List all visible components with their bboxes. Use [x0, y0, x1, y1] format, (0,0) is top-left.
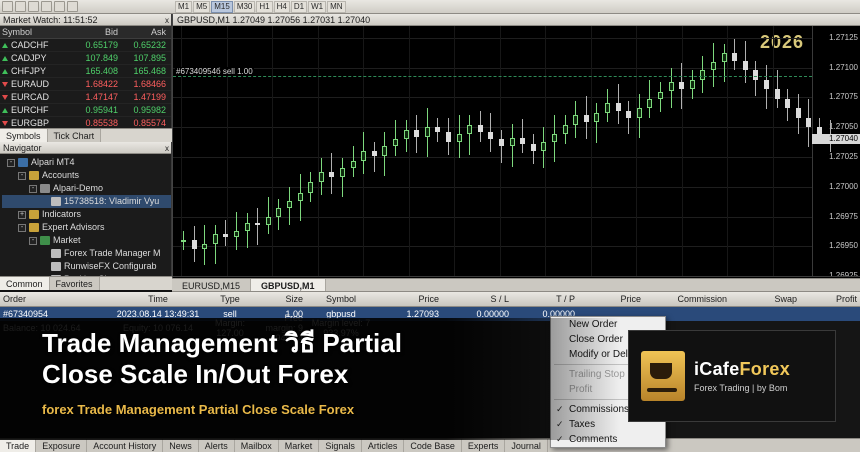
column-profit: Profit — [800, 294, 860, 304]
navigator-item[interactable]: 15738518: Vladimir Vyu — [2, 195, 171, 208]
tab-gbpusd-m1[interactable]: GBPUSD,M1 — [251, 279, 326, 291]
doc-icon — [51, 249, 61, 258]
navigator-item-label: Forex Trade Manager M — [64, 247, 161, 260]
column-tp: T / P — [512, 294, 578, 304]
brand-name: iCafeForex — [694, 359, 790, 380]
chart-header: GBPUSD,M1 1.27049 1.27056 1.27031 1.2704… — [173, 14, 860, 26]
candlestick — [351, 26, 356, 276]
candlestick — [690, 26, 695, 276]
market-watch-rows: CADCHF0.651790.65232CADJPY107.849107.895… — [0, 39, 171, 130]
timeframe-m30[interactable]: M30 — [234, 1, 256, 13]
tab-symbols[interactable]: Symbols — [0, 129, 48, 142]
candlestick — [414, 26, 419, 276]
terminal-header: Order Time Type Size Symbol Price S / L … — [0, 292, 860, 307]
candlestick — [658, 26, 663, 276]
brand-logo-card: iCafeForex Forex Trading | by Bom — [628, 330, 836, 422]
cell-ask: 0.65232 — [120, 40, 168, 50]
chart-tab-bar: EURUSD,M15 GBPUSD,M1 — [172, 278, 860, 292]
cell-bid: 1.68422 — [70, 79, 120, 89]
navigator-item-label: Accounts — [42, 169, 79, 182]
terminal-tab-signals[interactable]: Signals — [319, 439, 362, 452]
navigator-item-label: Alpari-Demo — [53, 182, 103, 195]
cell-symbol: EURCHF — [0, 105, 70, 115]
candlestick — [329, 26, 334, 276]
column-time: Time — [110, 294, 206, 304]
folder-icon — [29, 171, 39, 180]
tree-expander-icon[interactable]: + — [18, 211, 26, 219]
candlestick — [276, 26, 281, 276]
tree-expander-icon[interactable]: - — [29, 185, 37, 193]
cell-bid: 107.849 — [70, 53, 120, 63]
grid-line — [727, 26, 728, 276]
candlestick — [616, 26, 621, 276]
navigator-item-label: 15738518: Vladimir Vyu — [64, 195, 159, 208]
cell-bid: 165.408 — [70, 66, 120, 76]
cell-bid: 0.95941 — [70, 105, 120, 115]
tab-eurusd-m15[interactable]: EURUSD,M15 — [172, 279, 251, 291]
column-size: Size — [254, 294, 306, 304]
market-watch-title-text: Market Watch: 11:51:52 — [3, 15, 98, 25]
cell-ask: 1.68466 — [120, 79, 168, 89]
navigator-item[interactable]: +Indicators — [2, 208, 171, 221]
sell-order-line[interactable] — [173, 76, 812, 77]
cell-bid: 1.47147 — [70, 92, 120, 102]
navigator-item-label: Market — [53, 234, 81, 247]
column-symbol: Symbol — [0, 27, 70, 37]
brand-text: iCafeForex Forex Trading | by Bom — [694, 359, 790, 393]
doc-icon — [51, 197, 61, 206]
market-watch-tabs: Symbols Tick Chart — [0, 128, 172, 142]
gray-icon — [40, 184, 50, 193]
timeframe-m5[interactable]: M5 — [193, 1, 210, 13]
terminal-tab-news[interactable]: News — [163, 439, 199, 452]
price-tick-label: 1.27075 — [829, 92, 858, 101]
mt4-window: M1 M5 M15 M30 H1 H4 D1 W1 MN Market Watc… — [0, 0, 860, 452]
candlestick — [711, 26, 716, 276]
column-type: Type — [206, 294, 254, 304]
timeframe-m15[interactable]: M15 — [211, 1, 233, 13]
candlestick — [775, 26, 780, 276]
candlestick — [552, 26, 557, 276]
price-tick-label: 1.27025 — [829, 152, 858, 161]
candlestick — [700, 26, 705, 276]
column-commission: Commission — [644, 294, 730, 304]
terminal-tab-mailbox[interactable]: Mailbox — [235, 439, 279, 452]
candlestick — [308, 26, 313, 276]
navigator-item-label: RunwiseFX Configurab — [64, 260, 157, 273]
navigator-item[interactable]: Forex Trade Manager M — [2, 247, 171, 260]
candlestick — [605, 26, 610, 276]
terminal-tab-account-history[interactable]: Account History — [87, 439, 163, 452]
navigator-item[interactable]: RunwiseFX Configurab — [2, 260, 171, 273]
overlay-title: Trade Management วิธี Partial Close Scal… — [42, 328, 582, 390]
candlestick — [372, 26, 377, 276]
candlestick — [192, 26, 197, 276]
market-watch-row[interactable]: CADJPY107.849107.895 — [0, 52, 171, 65]
candlestick — [679, 26, 684, 276]
tab-tick-chart[interactable]: Tick Chart — [48, 129, 102, 142]
tree-expander-icon[interactable]: - — [18, 224, 26, 232]
candlestick — [319, 26, 324, 276]
cell-ask: 165.468 — [120, 66, 168, 76]
candlestick — [340, 26, 345, 276]
brand-name-right: Forex — [740, 359, 791, 379]
terminal-tab-trade[interactable]: Trade — [0, 439, 36, 452]
sell-order-label: #67340954б sell 1.00 — [175, 67, 254, 76]
grid-line — [409, 26, 410, 276]
navigator-title: Navigator x — [0, 142, 171, 154]
candlestick — [245, 26, 250, 276]
doc-icon — [51, 262, 61, 271]
timeframe-m1[interactable]: M1 — [175, 1, 192, 13]
candlestick — [637, 26, 642, 276]
timeframe-h1[interactable]: H1 — [256, 1, 272, 13]
market-watch-row[interactable]: EURCHF0.959410.95982 — [0, 104, 171, 117]
cell-ask: 107.895 — [120, 53, 168, 63]
candlestick — [626, 26, 631, 276]
green-icon — [40, 236, 50, 245]
tree-expander-icon[interactable]: - — [7, 159, 15, 167]
candlestick — [510, 26, 515, 276]
cell-symbol: EURGBP — [0, 118, 70, 128]
grid-line — [454, 26, 455, 276]
arrow-down-icon — [2, 95, 8, 100]
candlestick — [361, 26, 366, 276]
candlestick — [382, 26, 387, 276]
market-watch-row[interactable]: CHFJPY165.408165.468 — [0, 65, 171, 78]
cell-symbol: CHFJPY — [0, 66, 70, 76]
cell-symbol: CADCHF — [0, 40, 70, 50]
coffee-cup-icon — [641, 351, 685, 401]
candlestick — [181, 26, 186, 276]
candlestick — [743, 26, 748, 276]
arrow-down-icon — [2, 82, 8, 87]
candlestick — [584, 26, 589, 276]
column-price: Price — [376, 294, 442, 304]
toolbar-button[interactable] — [15, 1, 26, 12]
navigator-item-label: Alpari MT4 — [31, 156, 75, 169]
terminal-tab-alerts[interactable]: Alerts — [199, 439, 235, 452]
candlestick — [817, 26, 822, 276]
navigator-item[interactable]: -Alpari MT4 — [2, 156, 171, 169]
timeframe-mn[interactable]: MN — [327, 1, 345, 13]
timeframe-h4[interactable]: H4 — [274, 1, 290, 13]
cell-ask: 0.85574 — [120, 118, 168, 128]
close-icon[interactable]: x — [165, 143, 169, 155]
market-watch-panel: Market Watch: 11:51:52 x Symbol Bid Ask … — [0, 14, 172, 142]
tab-favorites[interactable]: Favorites — [50, 277, 100, 290]
current-price-tag: 1.27040 — [812, 134, 860, 144]
candlestick — [488, 26, 493, 276]
candlestick — [806, 26, 811, 276]
timeframe-w1[interactable]: W1 — [308, 1, 326, 13]
navigator-tree: -Alpari MT4-Accounts-Alpari-Demo15738518… — [0, 154, 171, 286]
price-tick-label: 1.26950 — [829, 241, 858, 250]
toolbar-button[interactable] — [54, 1, 65, 12]
candlestick — [732, 26, 737, 276]
blue-icon — [18, 158, 28, 167]
candlestick — [722, 26, 727, 276]
arrow-up-icon — [2, 108, 8, 113]
terminal-tab-exposure[interactable]: Exposure — [36, 439, 87, 452]
toolbar-buttons — [0, 0, 172, 13]
column-swap: Swap — [730, 294, 800, 304]
column-order: Order — [0, 294, 110, 304]
candlestick — [287, 26, 292, 276]
candlestick — [234, 26, 239, 276]
candlestick — [594, 26, 599, 276]
folder-icon — [29, 223, 39, 232]
candlestick — [785, 26, 790, 276]
cell-symbol: CADJPY — [0, 53, 70, 63]
price-tick-label: 1.27100 — [829, 63, 858, 72]
price-tick-label: 1.27050 — [829, 122, 858, 131]
candlestick — [435, 26, 440, 276]
chart-window: GBPUSD,M1 1.27049 1.27056 1.27031 1.2704… — [172, 14, 860, 290]
candlestick — [520, 26, 525, 276]
terminal-tab-journal[interactable]: Journal — [505, 439, 548, 452]
cell-bid: 0.85538 — [70, 118, 120, 128]
navigator-item[interactable]: -Alpari-Demo — [2, 182, 171, 195]
market-watch-header: Symbol Bid Ask — [0, 26, 171, 39]
navigator-item[interactable]: -Expert Advisors — [2, 221, 171, 234]
column-bid: Bid — [70, 27, 120, 37]
cell-bid: 0.65179 — [70, 40, 120, 50]
price-tick-label: 1.26975 — [829, 212, 858, 221]
folder-icon — [29, 210, 39, 219]
arrow-up-icon — [2, 69, 8, 74]
candlestick — [669, 26, 674, 276]
cell-ask: 0.95982 — [120, 105, 168, 115]
candlestick — [223, 26, 228, 276]
candlestick — [404, 26, 409, 276]
close-icon[interactable]: x — [165, 15, 169, 27]
navigator-tabs: Common Favorites — [0, 276, 172, 290]
overlay-title-line-1: Trade Management วิธี Partial — [42, 328, 582, 359]
arrow-up-icon — [2, 56, 8, 61]
terminal-tab-articles[interactable]: Articles — [362, 439, 405, 452]
grid-line — [272, 26, 273, 276]
terminal-tab-bar: TradeExposureAccount HistoryNewsAlertsMa… — [0, 438, 860, 452]
overlay-title-line-2: Close Scale In/Out Forex — [42, 359, 582, 390]
candlestick — [541, 26, 546, 276]
brand-name-left: iCafe — [694, 359, 740, 379]
market-watch-title: Market Watch: 11:51:52 x — [0, 14, 171, 26]
tab-common[interactable]: Common — [0, 277, 50, 290]
candlestick — [213, 26, 218, 276]
column-symbol: Symbol — [306, 294, 376, 304]
candlestick — [796, 26, 801, 276]
candlestick — [202, 26, 207, 276]
brand-tagline: Forex Trading | by Bom — [694, 383, 790, 393]
cell-symbol: EURCAD — [0, 92, 70, 102]
timeframe-strip: M1 M5 M15 M30 H1 H4 D1 W1 MN — [172, 1, 346, 13]
grid-line — [773, 26, 774, 276]
navigator-title-text: Navigator — [3, 143, 42, 153]
market-watch-row[interactable]: CADCHF0.651790.65232 — [0, 39, 171, 52]
candlestick — [467, 26, 472, 276]
tree-expander-icon[interactable]: - — [18, 172, 26, 180]
chart-canvas[interactable]: 1.271251.271001.270751.270501.270251.270… — [173, 26, 860, 276]
tree-expander-icon[interactable]: - — [29, 237, 37, 245]
candlestick — [753, 26, 758, 276]
cell-ask: 1.47199 — [120, 92, 168, 102]
candlestick — [764, 26, 769, 276]
price-tick-label: 1.27125 — [829, 33, 858, 42]
toolbar-button[interactable] — [2, 1, 13, 12]
candlestick — [563, 26, 568, 276]
arrow-up-icon — [2, 43, 8, 48]
top-toolbar: M1 M5 M15 M30 H1 H4 D1 W1 MN — [0, 0, 860, 14]
column-ask: Ask — [120, 27, 168, 37]
overlay-subtitle: forex Trade Management Partial Close Sca… — [42, 402, 354, 417]
candlestick — [531, 26, 536, 276]
toolbar-button[interactable] — [67, 1, 78, 12]
candlestick — [298, 26, 303, 276]
toolbar-button[interactable] — [28, 1, 39, 12]
candlestick — [393, 26, 398, 276]
cell-symbol: EURAUD — [0, 79, 70, 89]
candlestick — [828, 26, 833, 276]
navigator-item[interactable]: -Market — [2, 234, 171, 247]
candlestick — [647, 26, 652, 276]
navigator-item-label: Indicators — [42, 208, 81, 221]
terminal-tab-code-base[interactable]: Code Base — [404, 439, 462, 452]
candlestick — [478, 26, 483, 276]
navigator-item[interactable]: -Accounts — [2, 169, 171, 182]
terminal-tab-market[interactable]: Market — [279, 439, 320, 452]
grid-line — [591, 26, 592, 276]
timeframe-d1[interactable]: D1 — [291, 1, 307, 13]
candlestick — [573, 26, 578, 276]
terminal-tab-experts[interactable]: Experts — [462, 439, 506, 452]
candlestick — [446, 26, 451, 276]
arrow-down-icon — [2, 121, 8, 126]
navigator-panel: Navigator x -Alpari MT4-Accounts-Alpari-… — [0, 142, 172, 290]
navigator-item-label: Expert Advisors — [42, 221, 105, 234]
candlestick — [457, 26, 462, 276]
candlestick — [425, 26, 430, 276]
candlestick — [255, 26, 260, 276]
market-watch-row[interactable]: EURCAD1.471471.47199 — [0, 91, 171, 104]
toolbar-button[interactable] — [41, 1, 52, 12]
column-price-2: Price — [578, 294, 644, 304]
market-watch-row[interactable]: EURAUD1.684221.68466 — [0, 78, 171, 91]
candlestick — [499, 26, 504, 276]
candlestick — [266, 26, 271, 276]
price-tick-label: 1.27000 — [829, 182, 858, 191]
column-sl: S / L — [442, 294, 512, 304]
